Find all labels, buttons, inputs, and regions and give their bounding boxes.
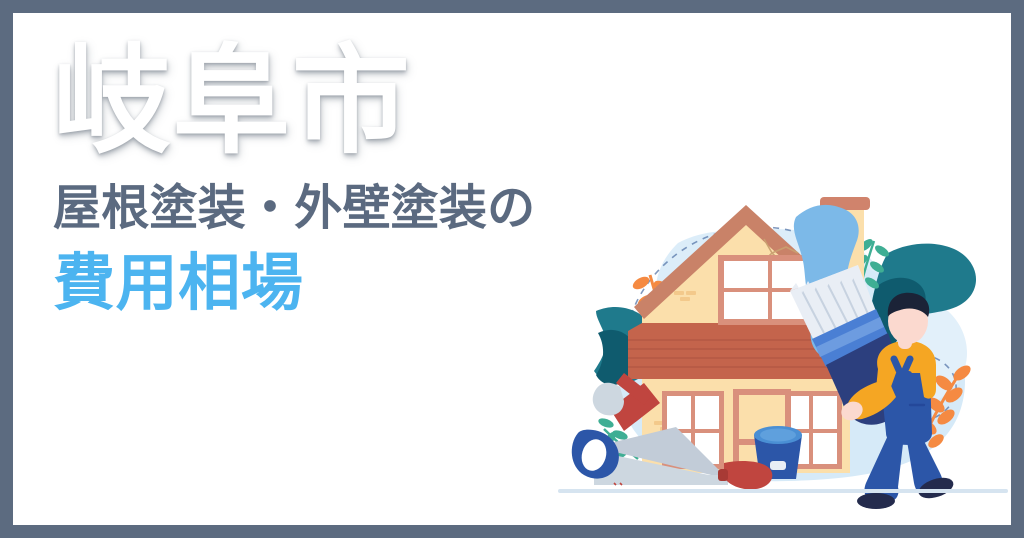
page-title-city: 岐阜市 — [53, 43, 613, 161]
banner-card: 岐阜市 屋根塗装・外壁塗装の 費用相場 — [0, 0, 1024, 538]
banner-text-block: 岐阜市 屋根塗装・外壁塗装の 費用相場 — [53, 43, 613, 443]
banner-inner-surface: 岐阜市 屋根塗装・外壁塗装の 費用相場 — [13, 13, 1011, 525]
banner-subtitle: 屋根塗装・外壁塗装の — [53, 185, 613, 233]
ground-line — [558, 489, 1008, 493]
house-painting-illustration — [558, 183, 1008, 513]
banner-highlight-cost: 費用相場 — [53, 253, 613, 315]
